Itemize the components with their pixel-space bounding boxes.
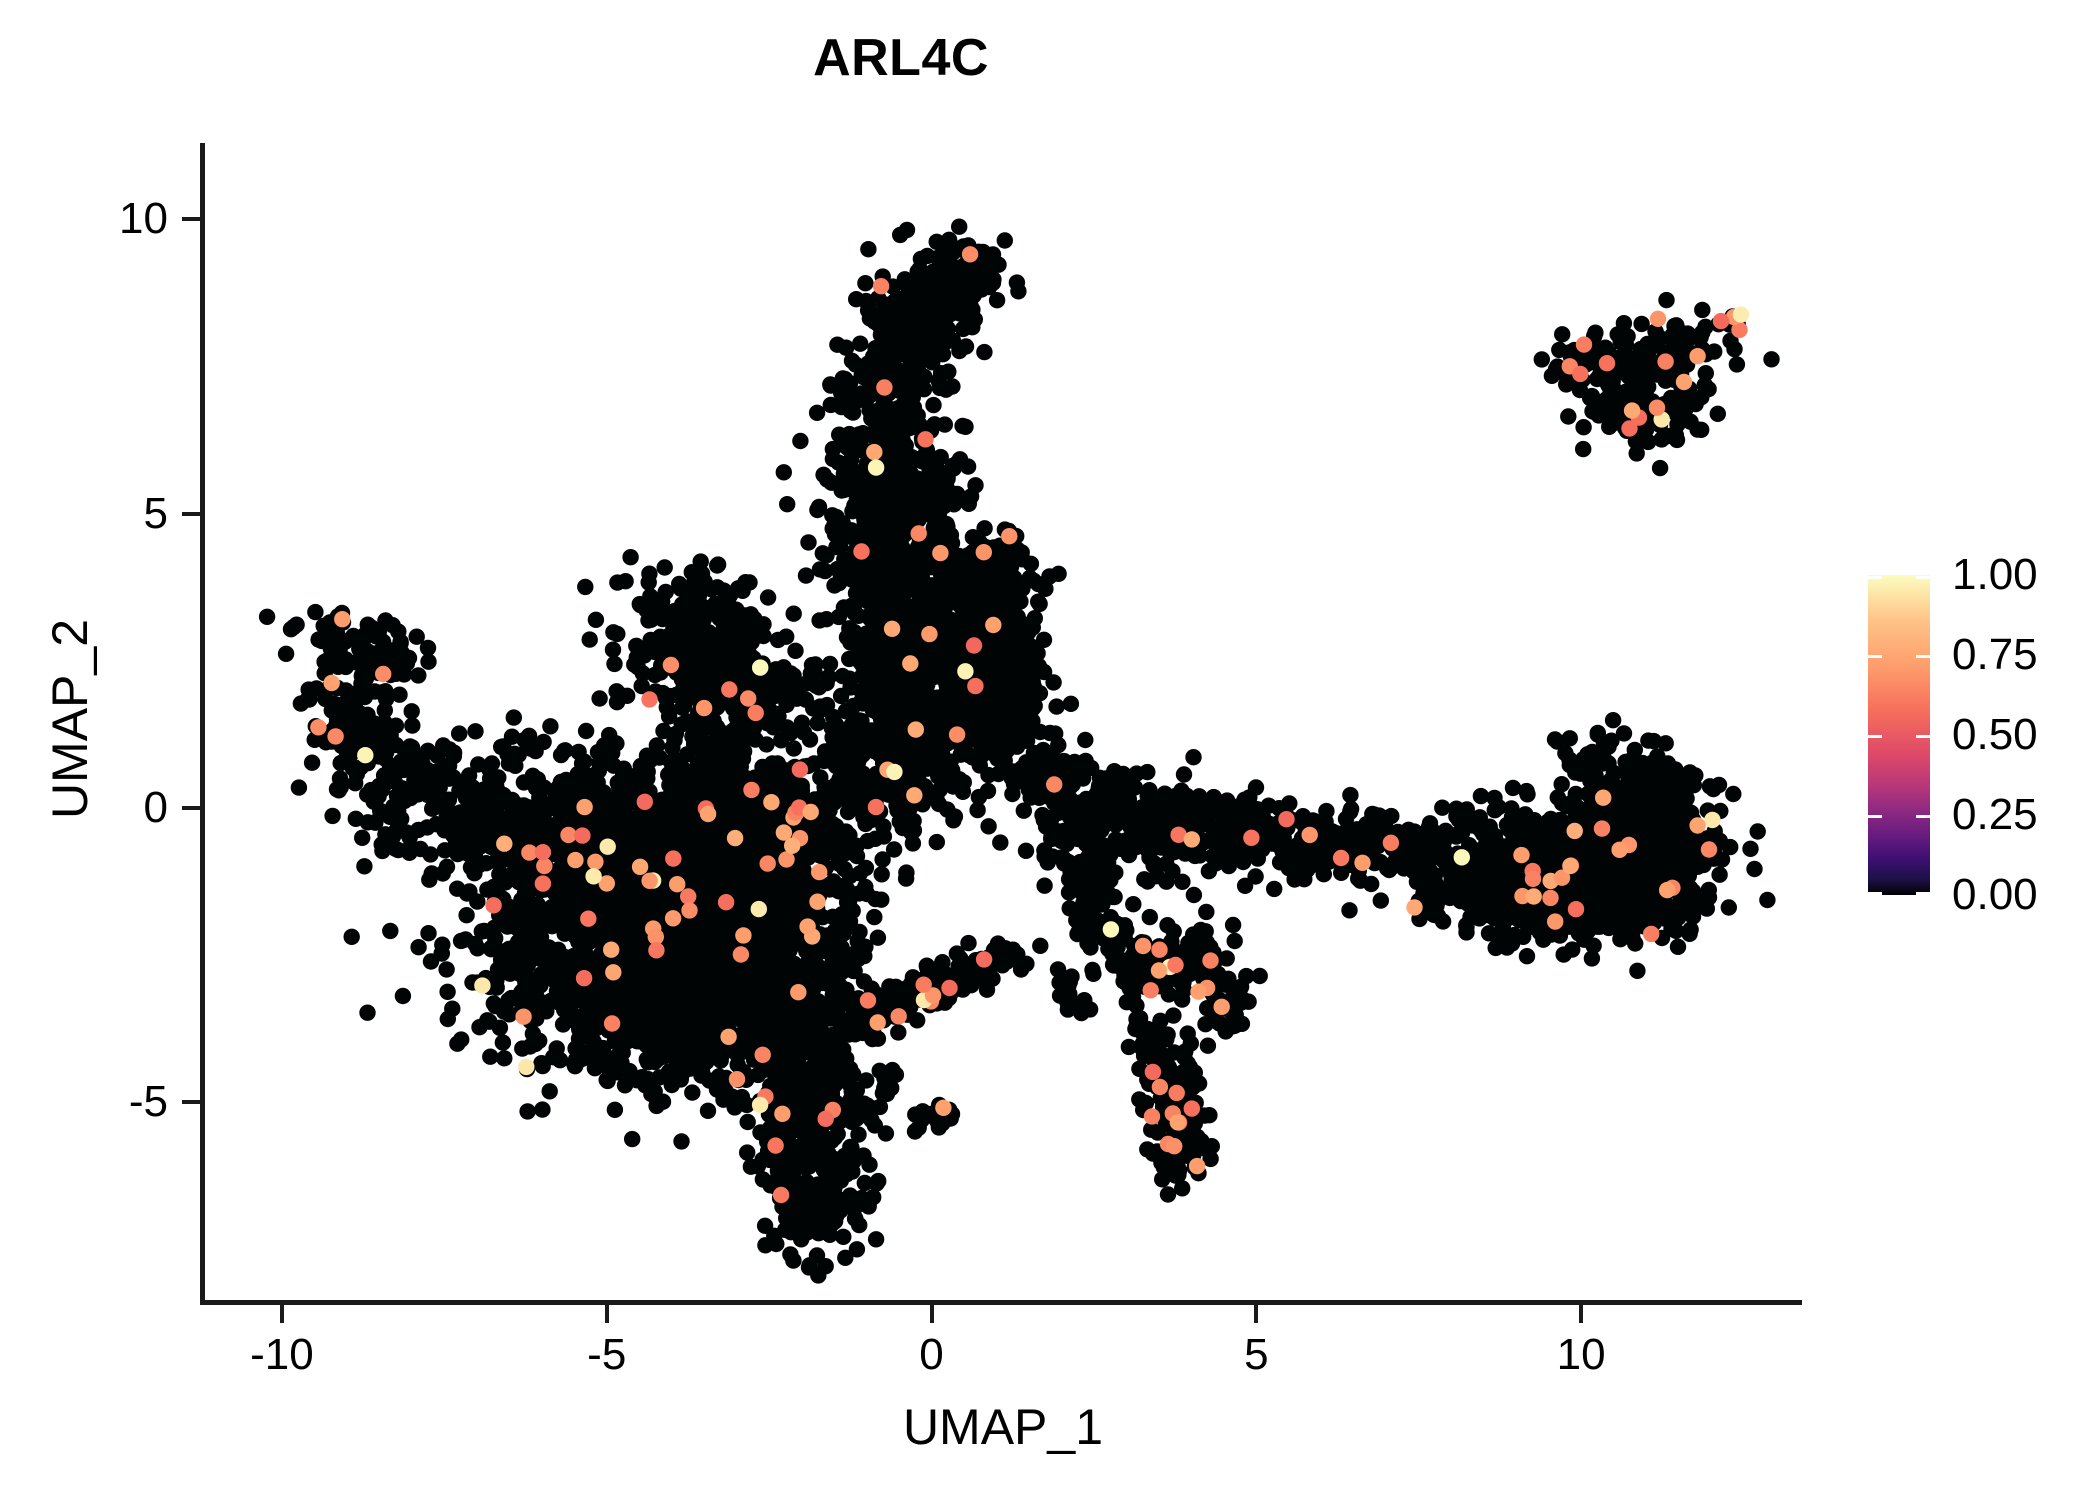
- scatter-point: [768, 1236, 784, 1252]
- scatter-point: [886, 841, 902, 857]
- scatter-point: [873, 892, 889, 908]
- scatter-point: [693, 620, 709, 636]
- scatter-point: [387, 841, 403, 857]
- scatter-point: [377, 702, 393, 718]
- scatter-point: [304, 755, 320, 771]
- scatter-point: [866, 909, 882, 925]
- scatter-point: [711, 610, 727, 626]
- scatter-point: [307, 604, 323, 620]
- scatter-point: [785, 1151, 801, 1167]
- scatter-point: [740, 1114, 756, 1130]
- scatter-point: [671, 937, 687, 953]
- umap-feature-plot: ARL4C 1050-5 -10-50510 UMAP_1 UMAP_2 1.0…: [0, 0, 2100, 1500]
- scatter-point: [732, 802, 748, 818]
- scatter-point: [641, 809, 657, 825]
- scatter-point: [805, 981, 821, 997]
- scatter-point: [815, 943, 831, 959]
- scatter-point: [404, 717, 420, 733]
- scatter-point: [803, 956, 819, 972]
- scatter-point: [393, 645, 409, 661]
- scatter-point: [878, 1125, 894, 1141]
- scatter-point: [643, 612, 659, 628]
- scatter-point: [868, 1231, 884, 1247]
- scatter-point: [688, 1021, 704, 1037]
- scatter-point: [721, 879, 737, 895]
- scatter-point: [536, 780, 552, 796]
- scatter-point: [841, 827, 857, 843]
- scatter-point: [750, 1067, 766, 1083]
- scatter-point: [404, 703, 420, 719]
- scatter-point: [769, 678, 785, 694]
- scatter-point: [767, 664, 783, 680]
- scatter-point: [576, 994, 592, 1010]
- scatter-point: [693, 571, 709, 587]
- scatter-point: [428, 767, 444, 783]
- scatter-point: [596, 813, 612, 829]
- scatter-point: [657, 817, 673, 833]
- scatter-point: [782, 1246, 798, 1262]
- scatter-point: [519, 811, 535, 827]
- scatter-point: [573, 783, 589, 799]
- scatter-point: [731, 969, 747, 985]
- scatter-point: [795, 862, 811, 878]
- scatter-point: [762, 1120, 778, 1136]
- scatter-point: [471, 1019, 487, 1035]
- scatter-point: [755, 1171, 771, 1187]
- scatter-point: [520, 981, 536, 997]
- scatter-point: [392, 754, 408, 770]
- scatter-point: [739, 1144, 755, 1160]
- scatter-point: [689, 992, 705, 1008]
- scatter-point: [688, 841, 704, 857]
- scatter-point: [609, 626, 625, 642]
- scatter-point: [441, 792, 457, 808]
- scatter-point: [876, 828, 892, 844]
- scatter-point: [354, 830, 370, 846]
- scatter-point: [587, 1060, 603, 1076]
- scatter-point: [498, 868, 514, 884]
- scatter-point: [344, 929, 360, 945]
- scatter-point: [709, 557, 725, 573]
- scatter-point: [423, 953, 439, 969]
- scatter-point: [857, 939, 873, 955]
- scatter-point: [787, 643, 803, 659]
- scatter-point: [822, 656, 838, 672]
- scatter-point: [980, 783, 996, 799]
- scatter-point: [779, 1211, 795, 1227]
- scatter-point: [278, 646, 294, 662]
- scatter-point: [681, 633, 697, 649]
- scatter-point: [382, 923, 398, 939]
- scatter-point: [861, 1198, 877, 1214]
- scatter-points-layer: [204, 143, 1802, 1302]
- scatter-point: [626, 656, 642, 672]
- scatter-point: [259, 609, 275, 625]
- scatter-point: [444, 1001, 460, 1017]
- scatter-point: [849, 1241, 865, 1257]
- scatter-point: [390, 803, 406, 819]
- scatter-point: [842, 868, 858, 884]
- scatter-point: [538, 965, 554, 981]
- scatter-point: [467, 723, 483, 739]
- scatter-point: [486, 995, 502, 1011]
- scatter-point: [582, 631, 598, 647]
- scatter-point: [466, 865, 482, 881]
- scatter-point: [410, 939, 426, 955]
- scatter-point: [861, 1157, 877, 1173]
- scatter-point: [409, 629, 425, 645]
- scatter-point: [847, 1210, 863, 1226]
- scatter-point: [514, 1040, 530, 1056]
- scatter-point: [506, 709, 522, 725]
- scatter-point: [747, 625, 763, 641]
- scatter-point: [799, 675, 815, 691]
- scatter-point: [343, 697, 359, 713]
- scatter-point: [446, 748, 462, 764]
- scatter-point: [539, 797, 555, 813]
- scatter-point: [483, 940, 499, 956]
- scatter-point: [841, 1161, 857, 1177]
- scatter-point: [780, 918, 796, 934]
- scatter-point: [420, 925, 436, 941]
- scatter-point: [402, 790, 418, 806]
- scatter-point: [711, 741, 727, 757]
- scatter-point: [550, 942, 566, 958]
- scatter-point: [658, 690, 674, 706]
- scatter-point: [483, 795, 499, 811]
- scatter-point: [500, 950, 516, 966]
- scatter-point: [640, 1054, 656, 1070]
- scatter-point: [360, 814, 376, 830]
- scatter-point: [567, 1058, 583, 1074]
- scatter-point: [588, 612, 604, 628]
- scatter-point: [708, 840, 724, 856]
- scatter-point: [651, 960, 667, 976]
- scatter-point: [992, 834, 1008, 850]
- scatter-point: [771, 1052, 787, 1068]
- scatter-point: [778, 958, 794, 974]
- scatter-point: [599, 1072, 615, 1088]
- scatter-point: [832, 917, 848, 933]
- scatter-point: [377, 612, 393, 628]
- scatter-point: [709, 579, 725, 595]
- scatter-point: [778, 629, 794, 645]
- scatter-point: [435, 865, 451, 881]
- scatter-point: [778, 1034, 794, 1050]
- scatter-point: [851, 885, 867, 901]
- scatter-point: [610, 1036, 626, 1052]
- scatter-point: [570, 934, 586, 950]
- scatter-point: [657, 559, 673, 575]
- scatter-point: [686, 655, 702, 671]
- scatter-point: [818, 1258, 834, 1274]
- scatter-point: [591, 690, 607, 706]
- scatter-point: [414, 749, 430, 765]
- scatter-point: [842, 801, 858, 817]
- scatter-point: [680, 823, 696, 839]
- scatter-point: [700, 1103, 716, 1119]
- scatter-point: [656, 1049, 672, 1065]
- scatter-point: [382, 729, 398, 745]
- scatter-point: [910, 772, 926, 788]
- scatter-point: [820, 818, 836, 834]
- scatter-point: [458, 907, 474, 923]
- scatter-point: [542, 1083, 558, 1099]
- scatter-point: [451, 725, 467, 741]
- scatter-point: [484, 755, 500, 771]
- scatter-point: [695, 953, 711, 969]
- scatter-point: [395, 988, 411, 1004]
- scatter-point: [622, 814, 638, 830]
- scatter-point: [810, 1199, 826, 1215]
- scatter-point: [728, 816, 744, 832]
- scatter-point: [772, 1067, 788, 1083]
- scatter-point: [783, 665, 799, 681]
- scatter-point: [622, 981, 638, 997]
- scatter-point: [332, 770, 348, 786]
- scatter-point: [663, 604, 679, 620]
- scatter-point: [632, 597, 648, 613]
- scatter-point: [673, 1133, 689, 1149]
- scatter-point: [551, 994, 567, 1010]
- scatter-point: [682, 600, 698, 616]
- scatter-point: [675, 954, 691, 970]
- scatter-point: [594, 788, 610, 804]
- scatter-point: [508, 796, 524, 812]
- scatter-point: [631, 835, 647, 851]
- scatter-point: [562, 975, 578, 991]
- scatter-point: [622, 549, 638, 565]
- scatter-point: [643, 632, 659, 648]
- scatter-point: [688, 1053, 704, 1069]
- scatter-point: [671, 991, 687, 1007]
- scatter-point: [656, 1034, 672, 1050]
- scatter-point: [684, 1084, 700, 1100]
- scatter-point: [549, 1040, 565, 1056]
- scatter-point: [713, 958, 729, 974]
- scatter-point: [805, 999, 821, 1015]
- scatter-point: [536, 818, 552, 834]
- scatter-point: [773, 894, 789, 910]
- scatter-point: [688, 721, 704, 737]
- scatter-point: [770, 1153, 786, 1169]
- scatter-point: [621, 1063, 637, 1079]
- scatter-point: [619, 688, 635, 704]
- scatter-point: [709, 1003, 725, 1019]
- scatter-point: [604, 987, 620, 1003]
- scatter-point: [835, 1229, 851, 1245]
- scatter-point: [760, 589, 776, 605]
- scatter-point: [364, 626, 380, 642]
- plot-panel: [204, 143, 1802, 1302]
- scatter-point: [801, 1259, 817, 1275]
- scatter-point: [374, 781, 390, 797]
- scatter-point: [359, 1005, 375, 1021]
- scatter-point: [420, 654, 436, 670]
- scatter-point: [800, 1040, 816, 1056]
- scatter-point: [349, 766, 365, 782]
- scatter-point: [606, 656, 622, 672]
- scatter-point: [749, 947, 765, 963]
- scatter-point: [743, 1034, 759, 1050]
- scatter-point: [689, 870, 705, 886]
- scatter-point: [492, 1020, 508, 1036]
- scatter-point: [732, 987, 748, 1003]
- scatter-point: [324, 808, 340, 824]
- scatter-point: [741, 574, 757, 590]
- scatter-point: [898, 870, 914, 886]
- scatter-point: [428, 816, 444, 832]
- scatter-point: [607, 1102, 623, 1118]
- scatter-point: [647, 667, 663, 683]
- scatter-point: [649, 737, 665, 753]
- scatter-point: [578, 723, 594, 739]
- scatter-point: [327, 651, 343, 667]
- scatter-point: [617, 796, 633, 812]
- scatter-point: [844, 842, 860, 858]
- scatter-point: [709, 719, 725, 735]
- scatter-point: [542, 718, 558, 734]
- scatter-point: [291, 779, 307, 795]
- scatter-point: [461, 883, 477, 899]
- scatter-point: [786, 606, 802, 622]
- scatter-point: [787, 1122, 803, 1138]
- scatter-point: [399, 824, 415, 840]
- scatter-point: [452, 827, 468, 843]
- scatter-point: [700, 978, 716, 994]
- scatter-point: [356, 858, 372, 874]
- scatter-point: [864, 773, 880, 789]
- scatter-point: [283, 621, 299, 637]
- scatter-point: [632, 896, 648, 912]
- scatter-point: [577, 579, 593, 595]
- scatter-point: [787, 891, 803, 907]
- scatter-point: [955, 784, 971, 800]
- scatter-point: [553, 774, 569, 790]
- scatter-point: [857, 1175, 873, 1191]
- scatter-point: [422, 846, 438, 862]
- scatter-point: [892, 782, 908, 798]
- scatter-point: [482, 770, 498, 786]
- scatter-point: [341, 749, 357, 765]
- scatter-point: [770, 708, 786, 724]
- scatter-point: [317, 691, 333, 707]
- scatter-point: [565, 954, 581, 970]
- scatter-point: [534, 1101, 550, 1117]
- scatter-point: [679, 746, 695, 762]
- scatter-point: [482, 1049, 498, 1065]
- scatter-point: [726, 731, 742, 747]
- scatter-point: [624, 1131, 640, 1147]
- scatter-point: [449, 1036, 465, 1052]
- scatter-point: [496, 1050, 512, 1066]
- scatter-point: [605, 642, 621, 658]
- scatter-point: [767, 942, 783, 958]
- scatter-point: [390, 623, 406, 639]
- scatter-point: [817, 838, 833, 854]
- scatter-point: [826, 958, 842, 974]
- scatter-point: [850, 755, 866, 771]
- scatter-point: [674, 716, 690, 732]
- scatter-point: [827, 1199, 843, 1215]
- scatter-point: [477, 811, 493, 827]
- scatter-point: [535, 1058, 551, 1074]
- scatter-point: [569, 1011, 585, 1027]
- scatter-point: [874, 866, 890, 882]
- scatter-point: [495, 1034, 511, 1050]
- scatter-point: [655, 1094, 671, 1110]
- scatter-point: [293, 695, 309, 711]
- scatter-point: [515, 900, 531, 916]
- scatter-point: [611, 779, 627, 795]
- scatter-point: [519, 1103, 535, 1119]
- page-title: ARL4C: [0, 28, 1802, 88]
- scatter-point: [552, 867, 568, 883]
- scatter-point: [439, 984, 455, 1000]
- scatter-point: [710, 667, 726, 683]
- scatter-point: [819, 927, 835, 943]
- scatter-point: [794, 1068, 810, 1084]
- scatter-point: [531, 950, 547, 966]
- scatter-point: [690, 1007, 706, 1023]
- scatter-point: [523, 932, 539, 948]
- scatter-point: [725, 700, 741, 716]
- scatter-point: [768, 994, 784, 1010]
- scatter-point: [363, 728, 379, 744]
- scatter-point: [758, 736, 774, 752]
- scatter-point: [831, 1060, 847, 1076]
- scatter-point: [778, 780, 794, 796]
- scatter-point: [552, 888, 568, 904]
- scatter-point: [587, 896, 603, 912]
- scatter-point: [617, 573, 633, 589]
- scatter-point: [664, 1077, 680, 1093]
- scatter-point: [694, 1037, 710, 1053]
- scatter-point: [438, 961, 454, 977]
- scatter-point: [808, 1144, 824, 1160]
- scatter-point: [391, 687, 407, 703]
- scatter-point: [326, 625, 342, 641]
- scatter-point: [378, 744, 394, 760]
- scatter-point: [410, 667, 426, 683]
- scatter-point: [745, 825, 761, 841]
- scatter-point: [621, 1006, 637, 1022]
- scatter-point: [675, 771, 691, 787]
- scatter-point: [501, 1006, 517, 1022]
- scatter-point: [890, 1024, 906, 1040]
- scatter-point: [641, 574, 657, 590]
- scatter-point: [587, 1017, 603, 1033]
- scatter-point: [980, 818, 996, 834]
- scatter-point: [929, 834, 945, 850]
- scatter-point: [674, 700, 690, 716]
- scatter-point: [342, 718, 358, 734]
